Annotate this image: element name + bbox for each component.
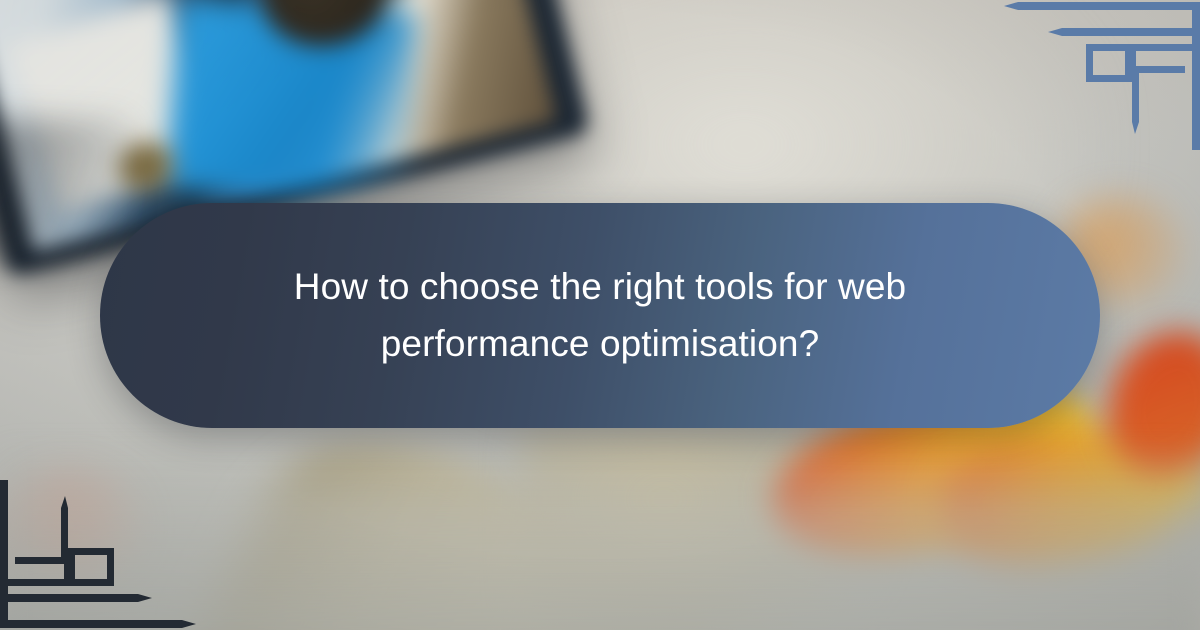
headline-card: How to choose the right tools for web pe… xyxy=(100,203,1100,428)
corner-ornament-bottom-left-icon xyxy=(0,480,200,630)
hero-canvas: How to choose the right tools for web pe… xyxy=(0,0,1200,630)
corner-ornament-top-right-icon xyxy=(1000,0,1200,150)
page-title: How to choose the right tools for web pe… xyxy=(260,259,940,371)
